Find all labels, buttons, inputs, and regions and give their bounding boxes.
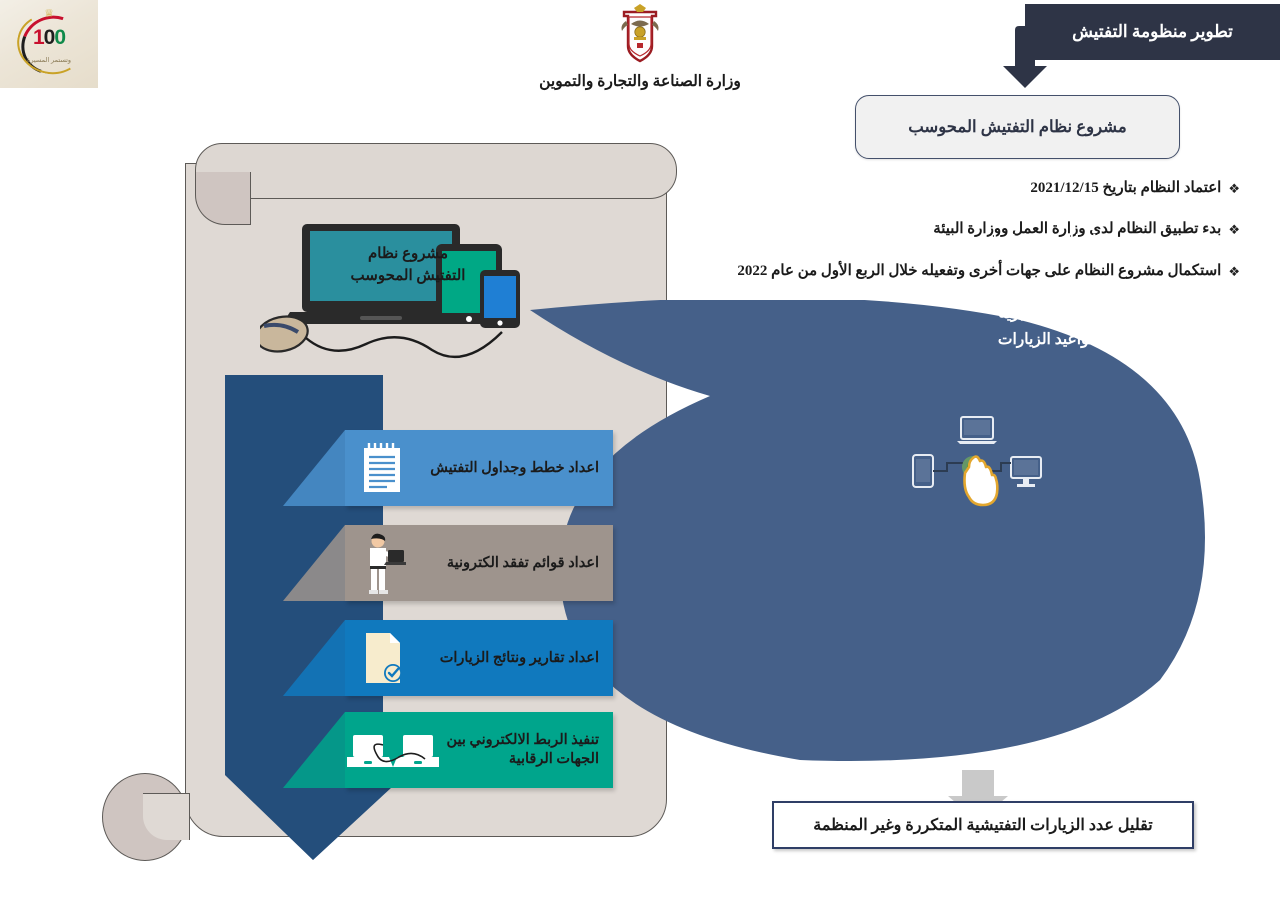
bubble-item-text: نتائج الفحوص المخبرية <box>998 305 1141 322</box>
bubble-lead-text: يسمح النظام بتبادل البيانات والمعلومات ح… <box>853 233 1141 250</box>
logo-content: 100 وتستمر المسيرة <box>0 0 98 88</box>
header-to-project-arrow-icon <box>1003 26 1067 88</box>
svg-text:مشروع نظام: مشروع نظام <box>368 246 448 262</box>
list-item: ❖ اعتماد النظام بتاريخ 2021/12/15 <box>680 178 1240 198</box>
process-step-3: اعداد تقارير ونتائج الزيارات <box>345 620 613 696</box>
list-item: ●نتائج الزيارات ومعايير الخطورة <box>560 276 1160 298</box>
bullet-icon: ● <box>1150 329 1160 348</box>
jordan-coat-of-arms-icon <box>612 4 668 66</box>
linked-laptops-icon <box>345 723 441 777</box>
step-2-label: اعداد قوائم تفقد الكترونية <box>419 554 613 573</box>
project-title: مشروع نظام التفتيش المحوسب <box>908 117 1127 137</box>
step-3-notch <box>283 620 345 696</box>
bullet-icon: ● <box>1150 277 1160 296</box>
slide-canvas: ♕ 100 وتستمر المسيرة وزارة الصناعة والتج… <box>0 0 1280 905</box>
step-3-label: اعداد تقارير ونتائج الزيارات <box>419 649 613 668</box>
process-step-1: اعداد خطط وجداول التفتيش <box>345 430 613 506</box>
outcome-box: تقليل عدد الزيارات التفتيشية المتكررة وغ… <box>772 801 1194 849</box>
notepad-icon <box>345 440 419 496</box>
svg-text:التفتيش المحوسب: التفتيش المحوسب <box>351 268 466 284</box>
project-title-box: مشروع نظام التفتيش المحوسب <box>855 95 1180 159</box>
list-item: ●نتائج الفحوص المخبرية <box>560 302 1160 324</box>
jordan-centennial-logo: ♕ 100 وتستمر المسيرة <box>0 0 98 88</box>
step-4-notch <box>283 712 345 788</box>
step-1-label: اعداد خطط وجداول التفتيش <box>419 459 613 478</box>
step-1-notch <box>283 430 345 506</box>
bubble-lead-line: ●يسمح النظام بتبادل البيانات والمعلومات … <box>560 230 1160 252</box>
diamond-bullet-icon: ❖ <box>1228 221 1240 239</box>
process-step-4: تنفيذ الربط الالكتروني بين الجهات الرقاب… <box>345 712 613 788</box>
process-step-2: اعداد قوائم تفقد الكترونية <box>345 525 613 601</box>
network-devices-touch-icon <box>905 405 1045 515</box>
ministry-block: وزارة الصناعة والتجارة والتموين <box>455 4 825 91</box>
ministry-name: وزارة الصناعة والتجارة والتموين <box>455 72 825 91</box>
bubble-item-text: نتائج الزيارات ومعايير الخطورة <box>948 279 1142 296</box>
diamond-bullet-icon: ❖ <box>1228 263 1240 281</box>
fact-text: اعتماد النظام بتاريخ 2021/12/15 <box>1030 178 1221 198</box>
logo-caption: وتستمر المسيرة <box>27 56 71 64</box>
inspector-with-laptop-icon <box>345 532 419 594</box>
bubble-item-text: تنسيق مواعيد الزيارات <box>998 331 1142 348</box>
step-2-notch <box>283 525 345 601</box>
header-title: تطوير منظومة التفتيش <box>1072 22 1233 42</box>
verified-document-icon <box>345 629 419 687</box>
bullet-icon: ● <box>1150 231 1160 250</box>
bullet-icon: ● <box>1150 303 1160 322</box>
scroll-top-roll <box>195 143 677 199</box>
step-4-label: تنفيذ الربط الالكتروني بين الجهات الرقاب… <box>441 731 613 769</box>
scroll-bottom-curl <box>143 793 190 840</box>
outcome-text: تقليل عدد الزيارات التفتيشية المتكررة وغ… <box>813 815 1152 835</box>
bubble-bullet-list: ●يسمح النظام بتبادل البيانات والمعلومات … <box>560 230 1160 355</box>
list-item: ●تنسيق مواعيد الزيارات <box>560 328 1160 350</box>
logo-number: 100 <box>33 27 65 48</box>
diamond-bullet-icon: ❖ <box>1228 180 1240 198</box>
